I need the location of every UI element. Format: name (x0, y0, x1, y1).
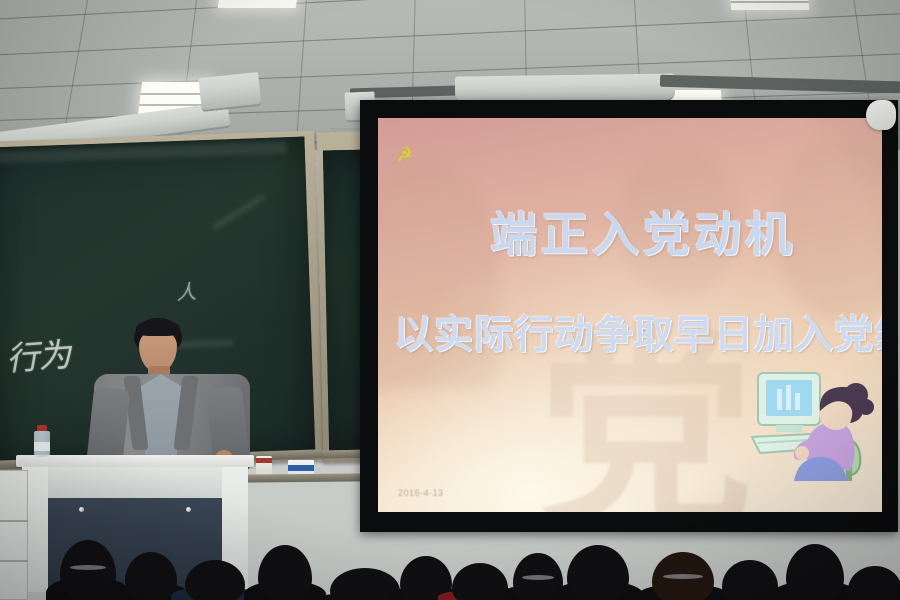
classroom-photo-scene: 行为 人 党 ☭ 端正入党动机 以实际行动争取早日加入党组织 (0, 0, 900, 600)
water-bottle (33, 425, 51, 457)
audience-hairband (663, 574, 703, 579)
person-at-computer-clipart (746, 361, 876, 481)
side-cabinet (0, 470, 28, 600)
lectern-body (22, 467, 248, 500)
lectern-screw (186, 507, 191, 512)
lectern-screw (79, 507, 84, 512)
presenter (84, 318, 260, 478)
hammer-and-sickle-icon: ☭ (395, 145, 414, 166)
projection-screen: 党 ☭ 端正入党动机 以实际行动争取早日加入党组织 (378, 118, 882, 512)
lectern-top (16, 455, 254, 467)
slide-headline-primary: 端正入党动机 (490, 196, 796, 265)
presenter-shirt (140, 374, 182, 466)
chalk-writing-primary: 行为 (4, 328, 71, 380)
cabinet-edge (0, 560, 28, 562)
chalk-writing-secondary: 人 (175, 275, 196, 305)
slide-headline-secondary: 以实际行动争取早日加入党组织 (394, 304, 882, 360)
recessed-fluorescent-lamp (218, 0, 301, 8)
bottle-label (34, 442, 50, 451)
slide-watermark: 党 (538, 258, 759, 512)
recessed-fluorescent-lamp (729, 0, 810, 10)
cabinet-edge (0, 520, 28, 522)
slide-date: 2016-4-13 (398, 488, 444, 498)
wall-mounted-speaker (866, 100, 896, 130)
ceiling-beam-left-2 (198, 72, 261, 112)
presenter-fringe (136, 320, 180, 336)
audience-hairband (522, 575, 554, 580)
